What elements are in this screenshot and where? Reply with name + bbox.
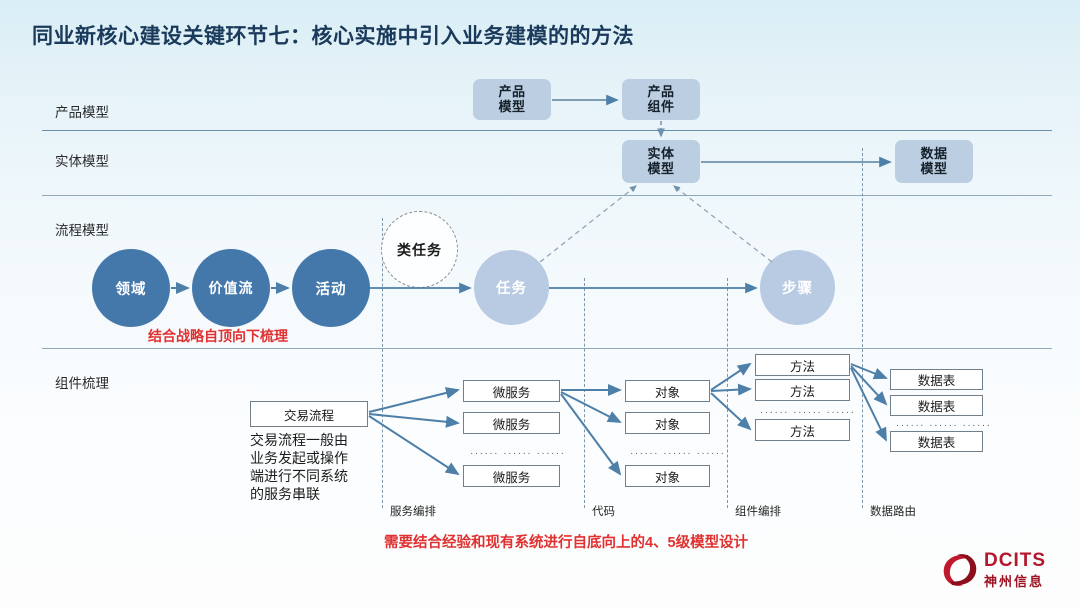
box-data-table-2-label: 数据表 xyxy=(918,396,956,415)
logo-name: DCITS xyxy=(984,550,1046,572)
lane-divider-2 xyxy=(42,195,1052,196)
box-object-2[interactable]: 对象 xyxy=(625,412,710,434)
column-label-code: 代码 xyxy=(592,503,615,519)
annotation-bottom-up: 需要结合经验和现有系统进行自底向上的4、5级模型设计 xyxy=(384,531,748,552)
slide-canvas: 同业新核心建设关键环节七：核心实施中引入业务建模的的方法 产品模型 实体模型 流… xyxy=(0,0,1080,608)
lane-label-product-model: 产品模型 xyxy=(55,101,109,121)
arrow-method-to-table-2 xyxy=(851,366,886,404)
box-transaction-flow[interactable]: 交易流程 xyxy=(250,401,368,427)
circle-activity-label: 活动 xyxy=(316,278,347,299)
circle-task-label: 任务 xyxy=(496,277,527,298)
circle-activity[interactable]: 活动 xyxy=(292,249,370,327)
column-label-data-routing: 数据路由 xyxy=(870,503,916,519)
box-data-table-2[interactable]: 数据表 xyxy=(890,395,983,416)
box-object-2-label: 对象 xyxy=(655,414,680,433)
ellipsis-objects: ······ ······ ······ xyxy=(630,448,726,459)
circle-value-stream-label: 价值流 xyxy=(209,278,254,298)
box-product-model-label: 产品 模型 xyxy=(498,85,525,115)
box-object-1-label: 对象 xyxy=(655,382,680,401)
lane-divider-3 xyxy=(42,348,1052,349)
dashed-step-to-entity xyxy=(674,186,772,262)
box-method-1-label: 方法 xyxy=(790,356,815,375)
box-entity-model-label: 实体 模型 xyxy=(647,147,674,177)
box-microservice-1-label: 微服务 xyxy=(493,382,531,401)
box-method-1[interactable]: 方法 xyxy=(755,354,850,376)
arrow-method-to-table-1 xyxy=(851,364,886,378)
box-method-2[interactable]: 方法 xyxy=(755,379,850,401)
box-method-3[interactable]: 方法 xyxy=(755,419,850,441)
page-title: 同业新核心建设关键环节七：核心实施中引入业务建模的的方法 xyxy=(32,20,634,50)
box-data-table-1[interactable]: 数据表 xyxy=(890,369,983,390)
arrow-microservice-to-object-3 xyxy=(561,394,620,474)
box-product-model[interactable]: 产品 模型 xyxy=(473,79,551,120)
box-microservice-2-label: 微服务 xyxy=(493,414,531,433)
lane-label-component-sorting: 组件梳理 xyxy=(55,372,109,392)
box-transaction-flow-label: 交易流程 xyxy=(284,405,334,424)
box-microservice-1[interactable]: 微服务 xyxy=(463,380,560,402)
dcits-swirl-icon xyxy=(938,548,982,592)
box-product-component-label: 产品 组件 xyxy=(647,85,674,115)
lane-divider-1 xyxy=(42,130,1052,131)
box-object-3-label: 对象 xyxy=(655,467,680,486)
box-data-table-3-label: 数据表 xyxy=(918,432,956,451)
box-data-model[interactable]: 数据 模型 xyxy=(895,140,973,183)
ellipsis-data-tables: ······ ······ ······ xyxy=(896,420,992,431)
ellipsis-methods: ······ ······ ······ xyxy=(760,407,856,418)
arrow-object-to-method-2 xyxy=(711,389,750,391)
ellipsis-microservices: ······ ······ ······ xyxy=(470,448,566,459)
column-guide-4 xyxy=(862,148,863,508)
circle-domain-label: 领域 xyxy=(116,278,147,299)
box-microservice-3-label: 微服务 xyxy=(493,467,531,486)
lane-label-entity-model: 实体模型 xyxy=(55,150,109,170)
annotation-top-down: 结合战略自顶向下梳理 xyxy=(148,326,288,346)
column-label-component-orchestration: 组件编排 xyxy=(735,503,781,519)
circle-task-class-label: 类任务 xyxy=(397,240,442,260)
company-logo: DCITS 神州信息 xyxy=(938,548,1066,596)
logo-name-cn: 神州信息 xyxy=(984,571,1044,590)
circle-value-stream[interactable]: 价值流 xyxy=(192,249,270,327)
circle-step[interactable]: 步骤 xyxy=(760,250,835,325)
box-data-model-label: 数据 模型 xyxy=(920,147,947,177)
box-entity-model[interactable]: 实体 模型 xyxy=(622,140,700,183)
column-guide-3 xyxy=(727,278,728,508)
column-label-service-orchestration: 服务编排 xyxy=(390,503,436,519)
lane-label-process-model: 流程模型 xyxy=(55,219,109,239)
box-method-2-label: 方法 xyxy=(790,381,815,400)
circle-step-label: 步骤 xyxy=(782,277,813,298)
box-product-component[interactable]: 产品 组件 xyxy=(622,79,700,120)
box-method-3-label: 方法 xyxy=(790,421,815,440)
box-data-table-1-label: 数据表 xyxy=(918,370,956,389)
circle-task-class[interactable]: 类任务 xyxy=(381,211,458,288)
box-microservice-2[interactable]: 微服务 xyxy=(463,412,560,434)
box-object-1[interactable]: 对象 xyxy=(625,380,710,402)
column-guide-2 xyxy=(584,278,585,508)
circle-domain[interactable]: 领域 xyxy=(92,249,170,327)
box-object-3[interactable]: 对象 xyxy=(625,465,710,487)
arrow-object-to-method-1 xyxy=(711,364,750,390)
dashed-task-to-entity xyxy=(540,186,636,262)
box-microservice-3[interactable]: 微服务 xyxy=(463,465,560,487)
arrow-microservice-to-object-2 xyxy=(561,392,620,422)
note-transaction-flow: 交易流程一般由 业务发起或操作 端进行不同系统 的服务串联 xyxy=(250,432,380,504)
box-data-table-3[interactable]: 数据表 xyxy=(890,431,983,452)
arrow-method-to-table-3 xyxy=(851,368,886,440)
circle-task[interactable]: 任务 xyxy=(474,250,549,325)
arrow-object-to-method-3 xyxy=(711,393,750,429)
